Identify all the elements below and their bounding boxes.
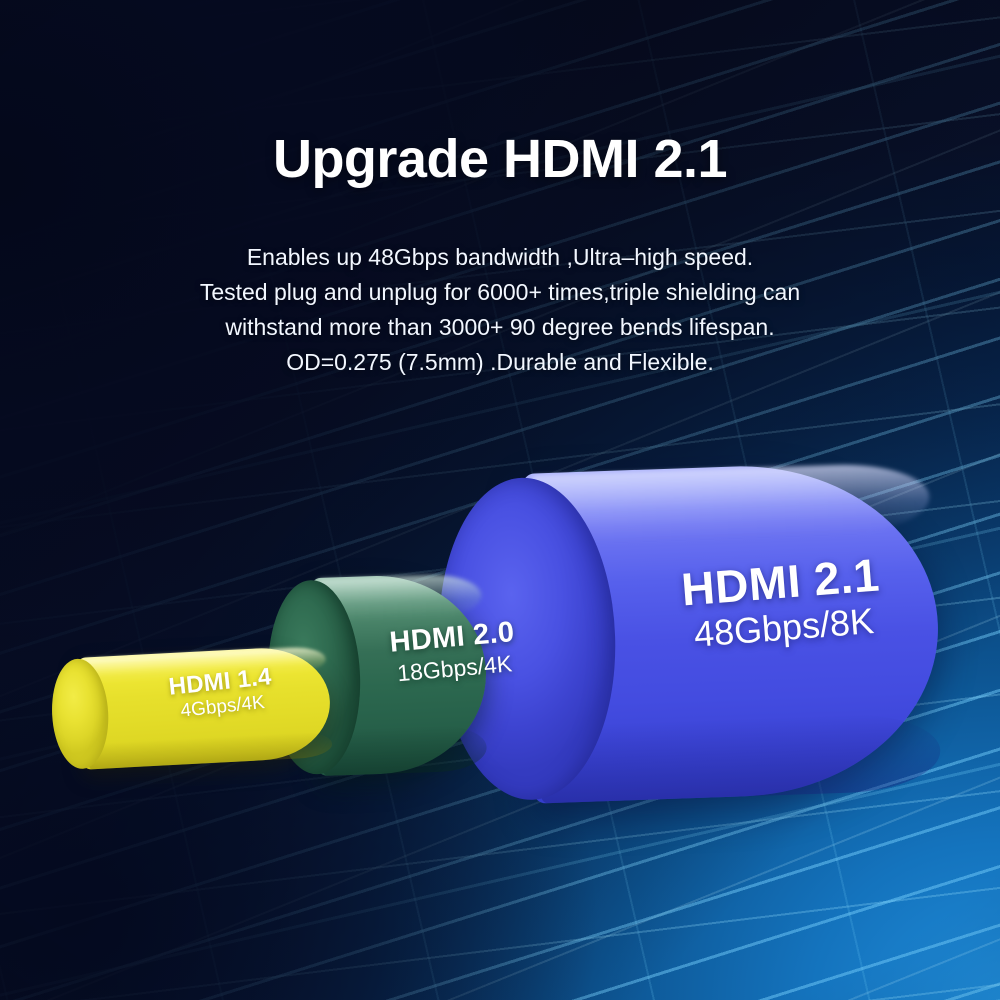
description-line-2: Tested plug and unplug for 6000+ times,t… xyxy=(120,275,880,310)
cable-cylinder-hdmi-1-4: HDMI 1.4 4Gbps/4K xyxy=(49,645,332,771)
description-text: Enables up 48Gbps bandwidth ,Ultra–high … xyxy=(120,240,880,380)
page-title: Upgrade HDMI 2.1 xyxy=(0,128,1000,190)
description-line-3: withstand more than 3000+ 90 degree bend… xyxy=(120,310,880,345)
promo-banner: Upgrade HDMI 2.1 Enables up 48Gbps bandw… xyxy=(0,0,1000,1000)
description-line-1: Enables up 48Gbps bandwidth ,Ultra–high … xyxy=(120,240,880,275)
description-line-4: OD=0.275 (7.5mm) .Durable and Flexible. xyxy=(120,345,880,380)
